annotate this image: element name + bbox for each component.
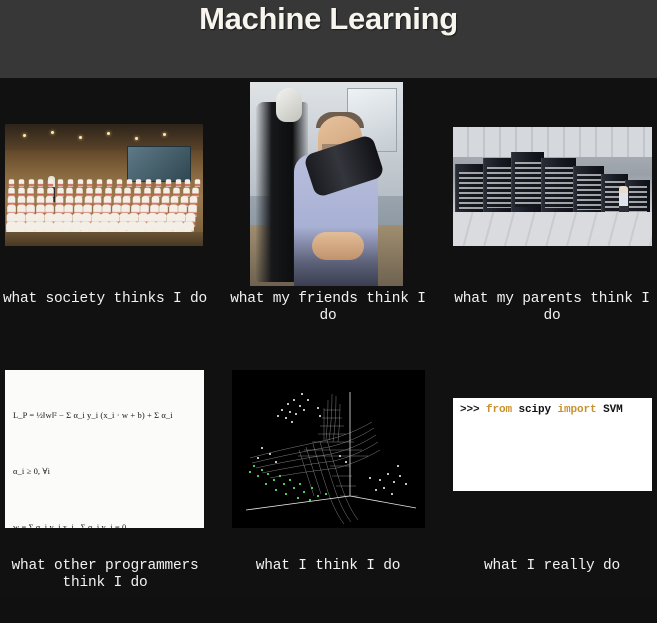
repl-prompt: >>>: [460, 404, 486, 416]
ceiling-light-icon: [51, 131, 54, 134]
panel-what-i-really-do: >>> from scipy import SVM: [453, 398, 652, 491]
crowd-person: [175, 179, 180, 187]
crowd-person: [68, 179, 73, 187]
meme-image: Machine Learning what society thinks I d…: [0, 0, 657, 623]
crowd-person: [87, 179, 92, 187]
crowd-person: [19, 179, 24, 187]
caption-what-society-thinks: what society thinks I do: [0, 291, 210, 308]
caption-what-my-parents-think: what my parents think I do: [447, 291, 657, 325]
crowd-person: [166, 179, 171, 187]
equation-line: L_P = ½‖w‖² − Σ α_i y_i (x_i · w + b) + …: [13, 403, 198, 428]
projection-screen: [127, 146, 191, 182]
panel-what-society-thinks: [5, 124, 203, 246]
crowd-person: [185, 179, 190, 187]
panel-what-i-think-i-do: [232, 370, 425, 528]
crowd-person: [9, 179, 14, 187]
crowd-person: [126, 179, 131, 187]
crowd-person: [107, 179, 112, 187]
crowd-person: [156, 179, 161, 187]
keyword-import: import: [558, 404, 597, 416]
datacenter-ceiling: [453, 127, 652, 157]
crowd-person: [117, 179, 122, 187]
crowd-person: [38, 179, 43, 187]
man-clasped-hands: [312, 232, 364, 260]
equation-line: α_i ≥ 0, ∀i: [13, 459, 198, 484]
crowd-person: [146, 179, 151, 187]
panel-what-other-programmers-think: L_P = ½‖w‖² − Σ α_i y_i (x_i · w + b) + …: [5, 370, 204, 528]
stage-floor: [5, 232, 203, 246]
keyword-from: from: [486, 404, 512, 416]
crowd-person: [28, 179, 33, 187]
caption-what-i-really-do: what I really do: [447, 558, 657, 575]
imported-symbol: SVM: [597, 404, 623, 416]
wireframe-surface-plot: [232, 370, 425, 528]
caption-what-my-friends-think: what my friends think I do: [222, 291, 434, 325]
panel-what-my-friends-think: [250, 82, 403, 286]
datacenter-floor: [453, 212, 652, 246]
crowd-person: [97, 179, 102, 187]
caption-what-i-think-i-do: what I think I do: [222, 558, 434, 575]
equation-block: L_P = ½‖w‖² − Σ α_i y_i (x_i · w + b) + …: [13, 378, 198, 528]
crowd-person: [136, 179, 141, 187]
ceiling-light-icon: [23, 134, 26, 137]
ceiling-light-icon: [163, 133, 166, 136]
ceiling-light-icon: [79, 136, 82, 139]
equation-line: w = Σ α_i y_i x_i , Σ α_i y_i = 0: [13, 515, 198, 528]
crowd-person: [48, 179, 53, 187]
panel-what-my-parents-think: [453, 127, 652, 246]
crowd-person: [58, 179, 63, 187]
ceiling-light-icon: [135, 137, 138, 140]
page-title: Machine Learning: [0, 1, 657, 37]
robot-head: [276, 88, 302, 122]
ceiling-light-icon: [107, 132, 110, 135]
footer-band: [0, 597, 657, 623]
module-name: scipy: [512, 404, 558, 416]
python-repl-line: >>> from scipy import SVM: [460, 404, 623, 416]
crowd-person: [195, 179, 200, 187]
crowd-person: [77, 179, 82, 187]
caption-what-other-programmers-think: what other programmers think I do: [0, 558, 210, 592]
